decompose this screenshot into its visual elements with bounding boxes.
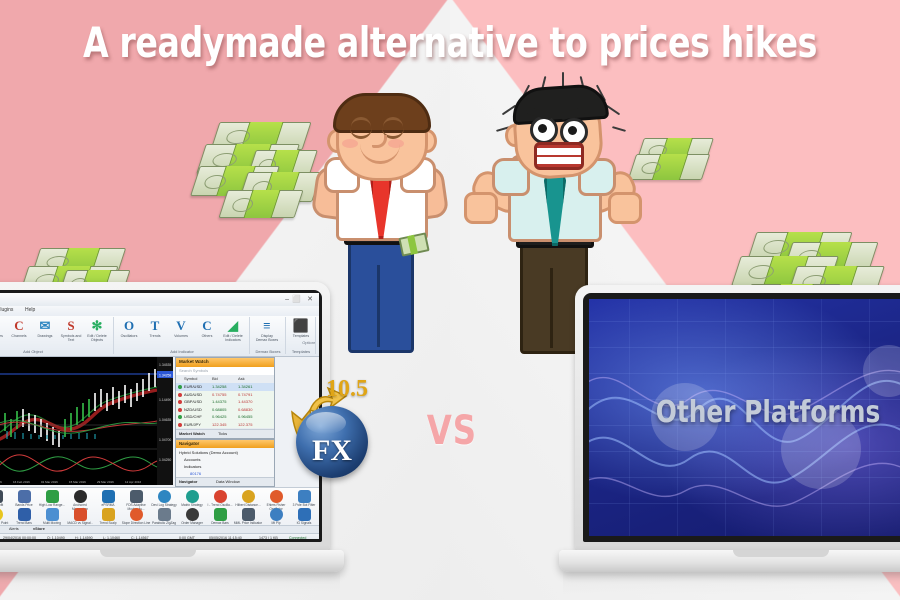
ribbon-item-edit-delete-indicators[interactable]: ◢ Edit / Delete Indicators bbox=[221, 319, 245, 343]
indicator-icon-ig-signals[interactable]: IG Signals bbox=[289, 508, 319, 526]
ribbon-group-label: Templates bbox=[287, 349, 315, 354]
indicator-icon-grid: Psychological Indicator SDL Profit Bands… bbox=[0, 487, 319, 526]
ribbon-item-templates[interactable]: ⬛ Templates bbox=[289, 319, 313, 338]
ribbon-label: Templates bbox=[289, 334, 313, 338]
logo-version-text: 10.5 bbox=[326, 376, 368, 403]
indicator-icon-bands-price[interactable]: Bands Price bbox=[9, 490, 39, 508]
ribbon-group-label: Add Indicator bbox=[115, 349, 249, 354]
page-title: A readymade alternative to prices hikes bbox=[54, 18, 846, 67]
happy-pocket-money bbox=[398, 232, 429, 256]
tab-data-window[interactable]: Data Window bbox=[216, 479, 240, 484]
ask-cell: 0.74791 bbox=[238, 392, 252, 397]
angry-pupil-left bbox=[538, 124, 547, 133]
ribbon-item-oscillators[interactable]: O Oscillators bbox=[117, 319, 141, 338]
ribbon-group-add-object: F Fibonacci L Line Studies C Channels ✉ … bbox=[0, 317, 114, 354]
svg-text:1.04700: 1.04700 bbox=[159, 438, 171, 442]
maximize-icon[interactable]: ⬜ bbox=[292, 295, 301, 304]
ask-cell: 0.96455 bbox=[238, 414, 252, 419]
logo-gloss bbox=[306, 412, 346, 434]
navigator-row[interactable]: 80176 bbox=[190, 471, 201, 476]
status-high: H: 1.14590 bbox=[75, 536, 93, 539]
navigator-row[interactable]: Indicators bbox=[184, 464, 201, 469]
other-platform-screen[interactable]: Other Platforms bbox=[589, 299, 900, 536]
svg-text:02 Feb 2016: 02 Feb 2016 bbox=[0, 480, 2, 484]
laptop-left-notch bbox=[100, 550, 196, 557]
mt4-titlebar: – ⬜ ✕ bbox=[0, 293, 319, 307]
angry-pants-seam bbox=[550, 268, 553, 348]
close-icon[interactable]: ✕ bbox=[307, 295, 313, 304]
direction-down-icon bbox=[178, 400, 182, 404]
laptop-right-reflection bbox=[563, 572, 900, 594]
menu-help[interactable]: Help bbox=[25, 307, 35, 313]
direction-up-icon bbox=[178, 385, 182, 389]
ask-cell: 122.375 bbox=[238, 422, 252, 427]
angry-fist-left bbox=[464, 192, 498, 224]
ribbon-group-add-indicator: O Oscillators T Trends V Volumes C Other… bbox=[115, 317, 250, 354]
indicator-icon-epsrma[interactable]: ePSRMA bbox=[93, 490, 123, 508]
indicator-icon-hilbert[interactable]: Hilbert Distance... bbox=[233, 490, 263, 508]
status-traffic: 1473 / 1 KB bbox=[259, 536, 278, 539]
promotional-banner: A readymade alternative to prices hikes bbox=[0, 0, 900, 600]
anger-line-9 bbox=[612, 126, 626, 132]
tab-ticks[interactable]: Ticks bbox=[218, 431, 227, 436]
column-symbol: Symbol bbox=[184, 376, 197, 381]
tab-vstore[interactable]: vStore bbox=[33, 527, 45, 531]
direction-down-icon bbox=[178, 393, 182, 397]
market-watch-title: Market Watch bbox=[179, 359, 209, 364]
angry-pupil-right bbox=[568, 126, 577, 135]
symbol-cell: NZD/USD bbox=[184, 407, 202, 412]
svg-text:1.04250: 1.04250 bbox=[159, 458, 171, 462]
svg-text:1.04635: 1.04635 bbox=[159, 418, 171, 422]
other-platforms-label: Other Platforms bbox=[603, 395, 900, 430]
ribbon-item-others[interactable]: C Others bbox=[195, 319, 219, 338]
navigator-title: Navigator bbox=[179, 441, 199, 446]
ribbon-item-edit-delete-objects[interactable]: ✻ Edit / Delete Objects bbox=[85, 319, 109, 343]
happy-blush-left bbox=[342, 139, 358, 148]
svg-text:12 Apr 2016: 12 Apr 2016 bbox=[125, 480, 142, 484]
symbol-cell: USD/CHF bbox=[184, 414, 202, 419]
indicator-icon-parabolic-zigzag[interactable]: Parabolic ZigZag bbox=[149, 508, 179, 526]
status-open: O: 1.10490 bbox=[47, 536, 65, 539]
ribbon-item-symbols-text[interactable]: S Symbols and Text bbox=[59, 319, 83, 343]
symbols-text-icon: S bbox=[59, 319, 83, 333]
ribbon-item-display-demax-boxes[interactable]: ≡ Display Demax Boxes bbox=[255, 319, 279, 343]
tab-navigator[interactable]: Navigator bbox=[179, 479, 197, 484]
ribbon-label: Trends bbox=[143, 334, 167, 338]
indicator-icon-demax-bars[interactable]: Demax Bars bbox=[205, 508, 235, 526]
indicator-icon-mt-pip[interactable]: Mt Pip bbox=[261, 508, 291, 526]
status-low: L: 1.10460 bbox=[103, 536, 120, 539]
mt4-ribbon: Options F Fibonacci L Line Studies C Cha… bbox=[0, 316, 319, 357]
ribbon-label: Edit / Delete Indicators bbox=[221, 334, 245, 343]
status-server-time: 05/05/2016 11:15:40 bbox=[209, 536, 242, 539]
direction-down-icon bbox=[178, 423, 182, 427]
svg-text:1.34258: 1.34258 bbox=[159, 374, 171, 378]
ribbon-label: Symbols and Text bbox=[59, 334, 83, 343]
metatrader-window: – ⬜ ✕ Edit Chart Plugins Help Options F … bbox=[0, 293, 319, 539]
status-gmt: 0:00 GMT bbox=[179, 536, 195, 539]
chart-svg: 1.345351.34258 1.144901.04635 1.047001.0… bbox=[0, 357, 173, 485]
ask-cell: 1.44370 bbox=[238, 399, 252, 404]
ribbon-label: Edit / Delete Objects bbox=[85, 334, 109, 343]
logo-fx-text: FX bbox=[296, 434, 368, 468]
svg-text:01 Mar 2016: 01 Mar 2016 bbox=[41, 480, 58, 484]
bid-cell: 0.68805 bbox=[212, 407, 226, 412]
ask-cell: 1.34261 bbox=[238, 384, 252, 389]
navigator-row[interactable]: Hybrid Solutions (Demo Account) bbox=[179, 450, 238, 455]
ribbon-label: Channels bbox=[7, 334, 31, 338]
indicator-icon-matrix[interactable]: Matrix Strategy bbox=[177, 490, 207, 508]
search-placeholder: Search Symbols bbox=[179, 368, 208, 373]
indicator-icon-mml-price[interactable]: MML Price Indicator bbox=[233, 508, 263, 526]
ribbon-label: Line Studies bbox=[0, 334, 5, 338]
market-watch-tabs[interactable]: Market Watch Ticks bbox=[176, 429, 274, 438]
ribbon-label: Volumes bbox=[169, 334, 193, 338]
laptop-right: Other Platforms bbox=[575, 285, 900, 600]
ribbon-item-trends[interactable]: T Trends bbox=[143, 319, 167, 338]
volumes-icon: V bbox=[169, 319, 193, 333]
money-stack-upper-left bbox=[195, 120, 315, 220]
ask-cell: 0.68830 bbox=[238, 407, 252, 412]
price-chart[interactable]: 1.345351.34258 1.144901.04635 1.047001.0… bbox=[0, 357, 173, 485]
ribbon-label: Display Demax Boxes bbox=[255, 334, 279, 343]
angry-teeth-lower bbox=[537, 157, 581, 164]
bid-cell: 122.345 bbox=[212, 422, 226, 427]
direction-down-icon bbox=[178, 408, 182, 412]
minimize-icon[interactable]: – bbox=[285, 295, 289, 304]
status-connection: Connected bbox=[289, 536, 306, 539]
ribbon-item-channels[interactable]: C Channels bbox=[7, 319, 31, 338]
navigator-header: Navigator bbox=[176, 440, 274, 448]
indicator-icon-i-trend[interactable]: I - Trend Oscilla... bbox=[205, 490, 235, 508]
ribbon-item-line-studies[interactable]: L Line Studies bbox=[0, 319, 5, 338]
tab-market-watch[interactable]: Market Watch bbox=[179, 431, 205, 436]
svg-text:15 Mar 2016: 15 Mar 2016 bbox=[69, 480, 86, 484]
angry-fist-right bbox=[608, 192, 642, 224]
column-ask: Ask bbox=[238, 376, 245, 381]
svg-text:29 Mar 2016: 29 Mar 2016 bbox=[97, 480, 114, 484]
indicator-icon-3-pole-filter[interactable]: 3 Pole Bot Filter bbox=[289, 490, 319, 508]
money-stack-center-right bbox=[630, 138, 720, 193]
display-demax-boxes-icon: ≡ bbox=[255, 319, 279, 333]
indicator-icon-slope-direction-line[interactable]: Slope Direction Line bbox=[121, 508, 151, 526]
laptop-right-notch bbox=[733, 550, 829, 557]
svg-text:16 Feb 2016: 16 Feb 2016 bbox=[13, 480, 30, 484]
svg-text:1.14490: 1.14490 bbox=[159, 398, 171, 402]
navigator-row[interactable]: Accounts bbox=[184, 457, 200, 462]
templates-icon: ⬛ bbox=[289, 319, 313, 333]
others-icon: C bbox=[195, 319, 219, 333]
bid-cell: 1.34258 bbox=[212, 384, 226, 389]
channels-icon: C bbox=[7, 319, 31, 333]
navigator-panel[interactable]: Navigator Hybrid Solutions (Demo Account… bbox=[175, 439, 275, 487]
indicator-icon-trend-scalp[interactable]: Trend Scalp bbox=[93, 508, 123, 526]
drawings-icon: ✉ bbox=[33, 319, 57, 333]
ribbon-label: Drawings bbox=[33, 334, 57, 338]
market-watch-panel[interactable]: Market Watch Search Symbols Symbol Bid A… bbox=[175, 357, 275, 439]
ribbon-group-demax-boxes: ≡ Display Demax Boxes Demax Boxes bbox=[251, 317, 286, 354]
symbol-cell: EUR/JPY bbox=[184, 422, 201, 427]
indicator-icon-devi-log[interactable]: Devi Log Strategy bbox=[149, 490, 179, 508]
line-studies-icon: L bbox=[0, 319, 5, 333]
laptop-right-base bbox=[559, 550, 900, 572]
svg-text:1.34535: 1.34535 bbox=[159, 363, 171, 367]
symbol-cell: AUD/USD bbox=[184, 392, 202, 397]
ribbon-item-volumes[interactable]: V Volumes bbox=[169, 319, 193, 338]
status-close: C: 1.14567 bbox=[131, 536, 149, 539]
ribbon-group-label: Add Object bbox=[0, 349, 113, 354]
indicator-icon-order-manager[interactable]: Order Manager bbox=[177, 508, 207, 526]
ribbon-group-templates: ⬛ Templates Templates bbox=[287, 317, 316, 354]
angry-mouth bbox=[534, 142, 584, 170]
symbol-cell: GBP/USD bbox=[184, 399, 202, 404]
ribbon-group-label: Demax Boxes bbox=[251, 349, 285, 354]
angry-teeth-upper bbox=[537, 148, 581, 155]
vs-label: VS bbox=[427, 408, 477, 454]
tab-alerts[interactable]: Alerts bbox=[9, 527, 19, 531]
status-datetime: 29/04/2016 00:00:00 bbox=[3, 536, 36, 539]
bid-cell: 0.96425 bbox=[212, 414, 226, 419]
trends-icon: T bbox=[143, 319, 167, 333]
symbol-cell: EUR/USD bbox=[184, 384, 202, 389]
bid-cell: 1.44375 bbox=[212, 399, 226, 404]
happy-pants-seam bbox=[377, 265, 380, 347]
ribbon-label: Oscillators bbox=[117, 334, 141, 338]
laptop-left-reflection bbox=[0, 572, 340, 594]
ribbon-label: Others bbox=[195, 334, 219, 338]
column-bid: Bid bbox=[212, 376, 218, 381]
ribbon-item-drawings[interactable]: ✉ Drawings bbox=[33, 319, 57, 338]
bid-cell: 0.74755 bbox=[212, 392, 226, 397]
oscillators-icon: O bbox=[117, 319, 141, 333]
edit-delete-objects-icon: ✻ bbox=[85, 319, 109, 333]
indicator-icon-trend-bars[interactable]: Trend Bars bbox=[9, 508, 39, 526]
table-row[interactable]: EUR/JPY 122.345 122.375 bbox=[176, 421, 274, 430]
navigator-tabs[interactable]: Navigator Data Window bbox=[176, 477, 274, 486]
edit-delete-indicators-icon: ◢ bbox=[221, 319, 245, 333]
status-bar: 29/04/2016 00:00:00 O: 1.10490 H: 1.1459… bbox=[0, 533, 319, 539]
indicator-icon-high-low-range[interactable]: High Low Range... bbox=[37, 490, 67, 508]
direction-up-icon bbox=[178, 415, 182, 419]
vfx-logo: FX 10.5 bbox=[288, 378, 384, 483]
menu-plugins[interactable]: Plugins bbox=[0, 307, 13, 313]
